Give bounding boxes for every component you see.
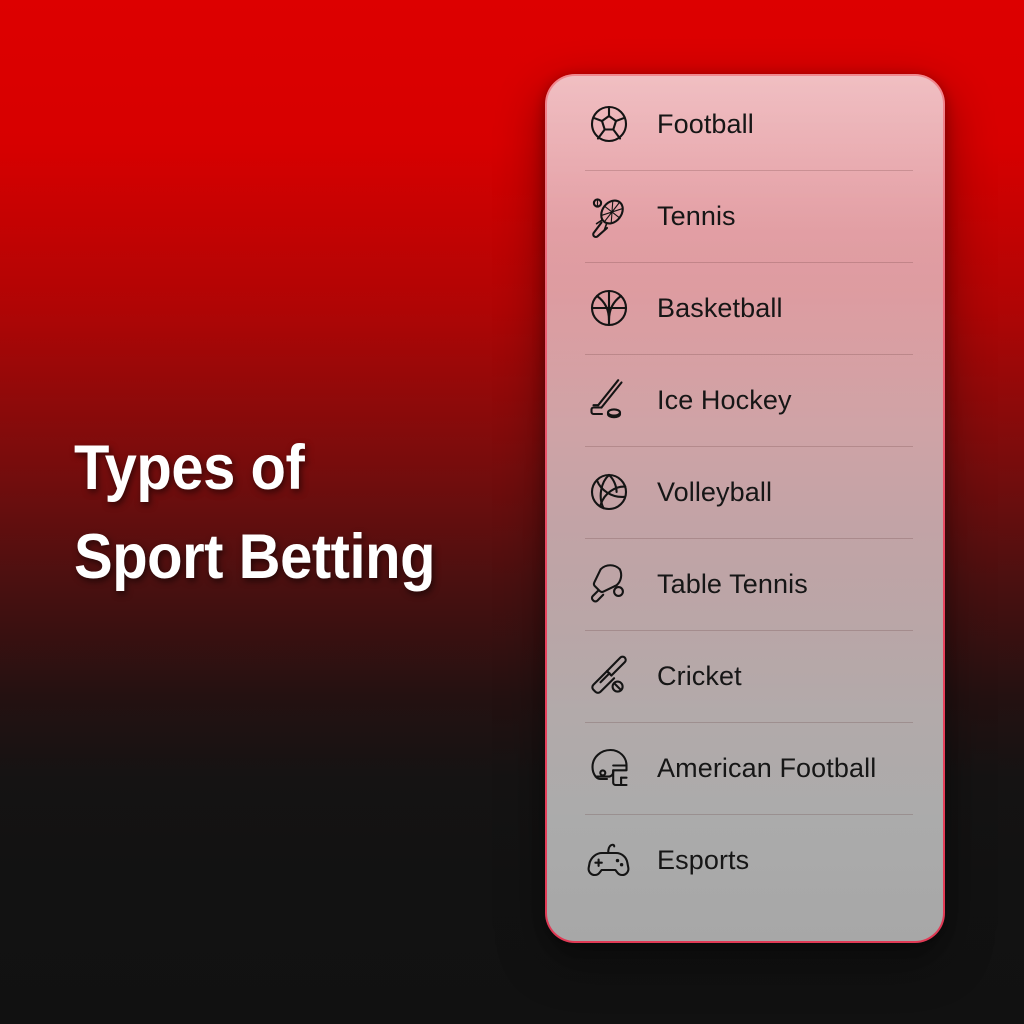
list-item-label: Tennis <box>657 201 736 232</box>
list-item-label: Basketball <box>657 293 783 324</box>
list-item[interactable]: Football <box>547 78 943 170</box>
list-item[interactable]: Basketball <box>547 262 943 354</box>
list-item-label: Volleyball <box>657 477 772 508</box>
ping-pong-paddle-icon <box>581 556 637 612</box>
football-helmet-icon <box>581 740 637 796</box>
basketball-icon <box>581 280 637 336</box>
sports-list: Football <box>547 78 943 906</box>
list-item[interactable]: Tennis <box>547 170 943 262</box>
list-item-label: Esports <box>657 845 749 876</box>
list-item-label: Table Tennis <box>657 569 808 600</box>
list-item[interactable]: Table Tennis <box>547 538 943 630</box>
list-item[interactable]: Cricket <box>547 630 943 722</box>
list-item-label: Football <box>657 109 754 140</box>
gamepad-icon <box>581 832 637 888</box>
list-item-label: Cricket <box>657 661 742 692</box>
list-item[interactable]: Volleyball <box>547 446 943 538</box>
page-title: Types of Sport Betting <box>74 424 470 603</box>
list-item[interactable]: Ice Hockey <box>547 354 943 446</box>
sports-list-card: Football <box>545 74 945 943</box>
poster-canvas: Types of Sport Betting Football <box>0 0 1024 1024</box>
cricket-bat-ball-icon <box>581 648 637 704</box>
list-item-label: American Football <box>657 753 876 784</box>
list-item[interactable]: Esports <box>547 814 943 906</box>
list-item[interactable]: American Football <box>547 722 943 814</box>
volleyball-icon <box>581 464 637 520</box>
hockey-stick-puck-icon <box>581 372 637 428</box>
soccer-ball-icon <box>581 96 637 152</box>
list-item-label: Ice Hockey <box>657 385 792 416</box>
tennis-racket-icon <box>581 188 637 244</box>
sports-list-card-surface: Football <box>547 76 943 941</box>
